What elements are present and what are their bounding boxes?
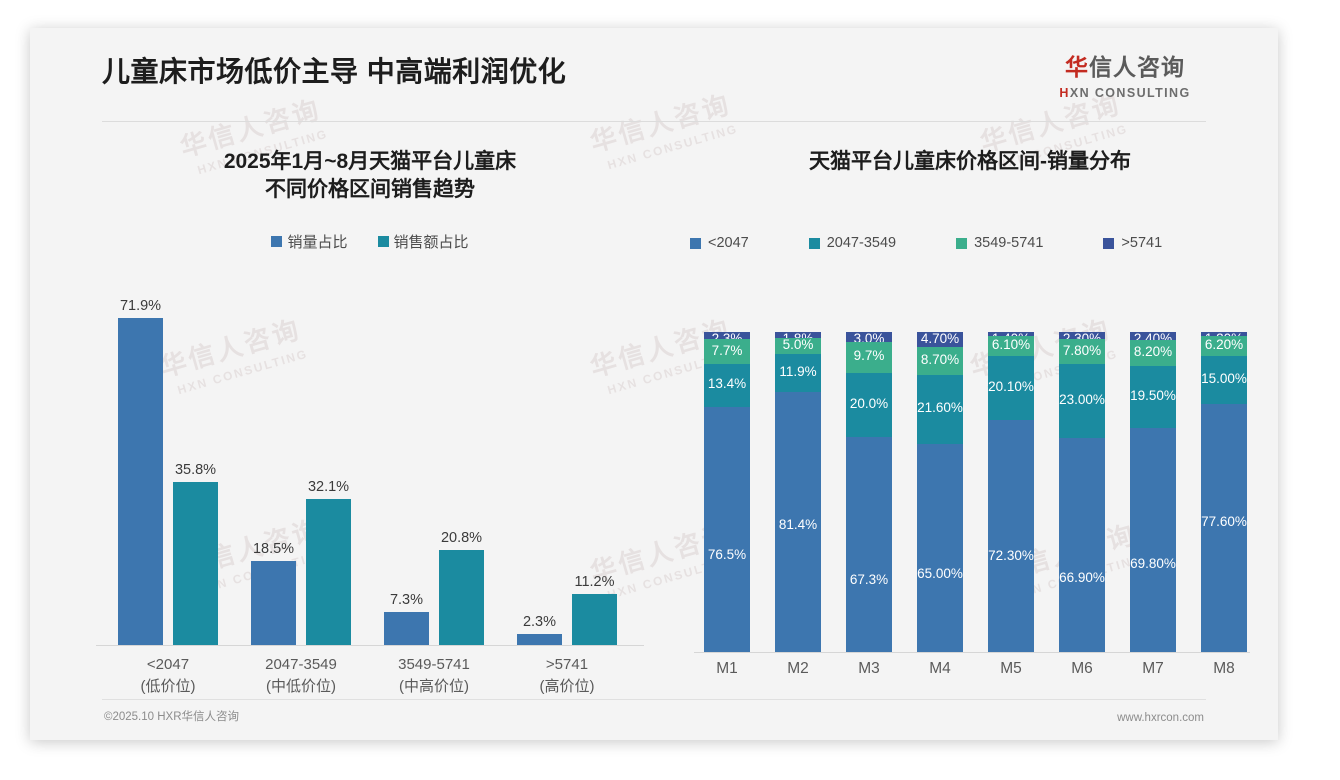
bar-value-label: 71.9% xyxy=(120,298,161,314)
bar-value-label: 35.8% xyxy=(175,462,216,478)
legend-label: 3549-5741 xyxy=(974,235,1043,251)
bar-sales-amount[interactable] xyxy=(173,482,218,645)
bar-sales-amount[interactable] xyxy=(439,550,484,645)
legend-item-over-5741[interactable]: >5741 xyxy=(1103,235,1162,251)
segment-under-2047[interactable]: 77.60% xyxy=(1201,404,1247,652)
segment-value-label: 13.4% xyxy=(708,376,746,391)
bar-group: 71.9% 35.8% xyxy=(118,318,218,645)
segment-over-5741[interactable]: 2.30% xyxy=(1059,332,1105,339)
bar-group: 18.5% 32.1% xyxy=(251,499,351,645)
legend-label: <2047 xyxy=(708,235,749,251)
x-axis-label-month: M5 xyxy=(981,660,1041,678)
segment-3549-5741[interactable]: 8.70% xyxy=(917,347,963,375)
segment-2047-3549[interactable]: 11.9% xyxy=(775,354,821,392)
segment-2047-3549[interactable]: 23.00% xyxy=(1059,364,1105,438)
bar-wrapper[interactable]: 20.8% xyxy=(439,550,484,645)
x-axis-label-month: M7 xyxy=(1123,660,1183,678)
slide-header: 儿童床市场低价主导 中高端利润优化 华信人咨询 HXN CONSULTING xyxy=(30,28,1278,121)
segment-value-label: 7.80% xyxy=(1063,343,1101,358)
segment-value-label: 76.5% xyxy=(708,547,746,562)
segment-3549-5741[interactable]: 7.7% xyxy=(704,339,750,364)
bar-value-label: 20.8% xyxy=(441,530,482,546)
segment-value-label: 20.10% xyxy=(988,379,1034,394)
segment-over-5741[interactable]: 4.70% xyxy=(917,332,963,347)
legend-label: 2047-3549 xyxy=(827,235,896,251)
bar-sales-amount[interactable] xyxy=(306,499,351,645)
segment-3549-5741[interactable]: 8.20% xyxy=(1130,340,1176,366)
right-chart-title: 天猫平台儿童床价格区间-销量分布 xyxy=(680,138,1260,176)
segment-3549-5741[interactable]: 7.80% xyxy=(1059,339,1105,364)
segment-value-label: 72.30% xyxy=(988,548,1034,563)
segment-value-label: 19.50% xyxy=(1130,388,1176,403)
stacked-bar[interactable]: 1.8% 5.0% 11.9% 81.4% xyxy=(775,332,821,652)
segment-under-2047[interactable]: 65.00% xyxy=(917,444,963,652)
left-chart-legend: 销量占比 销售额占比 xyxy=(70,231,670,252)
segment-value-label: 5.0% xyxy=(783,337,814,352)
logo-cn-rest: 信人咨询 xyxy=(1089,54,1185,80)
x-axis-label-sub: (高价位) xyxy=(512,676,622,698)
x-axis-label-month: M8 xyxy=(1194,660,1254,678)
segment-3549-5741[interactable]: 9.7% xyxy=(846,342,892,373)
x-axis-label-sub: (中低价位) xyxy=(246,676,356,698)
logo-chinese-text: 华信人咨询 xyxy=(1040,56,1210,79)
segment-value-label: 9.7% xyxy=(854,348,885,363)
segment-2047-3549[interactable]: 15.00% xyxy=(1201,356,1247,404)
bar-wrapper[interactable]: 2.3% xyxy=(517,634,562,645)
bar-sales-volume[interactable] xyxy=(251,561,296,645)
logo-en-rest: XN CONSULTING xyxy=(1070,86,1191,100)
bar-wrapper[interactable]: 7.3% xyxy=(384,612,429,645)
segment-under-2047[interactable]: 67.3% xyxy=(846,437,892,652)
segment-value-label: 7.7% xyxy=(712,343,743,358)
bar-value-label: 2.3% xyxy=(523,614,556,630)
segment-value-label: 4.70% xyxy=(921,331,959,346)
bar-sales-volume[interactable] xyxy=(118,318,163,645)
stacked-bar[interactable]: 4.70% 8.70% 21.60% 65.00% xyxy=(917,332,963,652)
bar-sales-volume[interactable] xyxy=(384,612,429,645)
segment-value-label: 8.70% xyxy=(921,352,959,367)
segment-value-label: 6.10% xyxy=(992,337,1030,352)
bar-value-label: 7.3% xyxy=(390,592,423,608)
segment-value-label: 77.60% xyxy=(1201,514,1247,529)
footer-website[interactable]: www.hxrcon.com xyxy=(1117,712,1204,724)
segment-under-2047[interactable]: 81.4% xyxy=(775,392,821,652)
segment-under-2047[interactable]: 76.5% xyxy=(704,407,750,652)
brand-logo: 华信人咨询 HXN CONSULTING xyxy=(1040,56,1210,100)
bar-wrapper[interactable]: 32.1% xyxy=(306,499,351,645)
bar-value-label: 32.1% xyxy=(308,479,349,495)
footer-divider xyxy=(102,699,1206,700)
x-axis-label-month: M6 xyxy=(1052,660,1112,678)
bar-wrapper[interactable]: 35.8% xyxy=(173,482,218,645)
segment-under-2047[interactable]: 72.30% xyxy=(988,420,1034,651)
legend-swatch-icon xyxy=(956,238,967,249)
segment-over-5741[interactable]: 3.0% xyxy=(846,332,892,342)
legend-swatch-icon xyxy=(690,238,701,249)
legend-item-2047-3549[interactable]: 2047-3549 xyxy=(809,235,896,251)
right-chart-legend: <2047 2047-3549 3549-5741 >5741 xyxy=(680,235,1260,251)
x-axis-label: 2047-3549 (中低价位) xyxy=(246,654,356,698)
segment-over-5741[interactable]: 2.40% xyxy=(1130,332,1176,340)
segment-3549-5741[interactable]: 6.20% xyxy=(1201,336,1247,356)
legend-item-sales-volume[interactable]: 销量占比 xyxy=(271,231,347,252)
x-axis-label: <2047 (低价位) xyxy=(113,654,223,698)
left-chart-x-axis-labels: <2047 (低价位) 2047-3549 (中低价位) 3549-5741 (… xyxy=(96,654,644,710)
left-chart-title: 2025年1月~8月天猫平台儿童床 不同价格区间销售趋势 xyxy=(70,138,670,205)
stacked-bar[interactable]: 1.20% 6.20% 15.00% 77.60% xyxy=(1201,332,1247,652)
bar-sales-volume[interactable] xyxy=(517,634,562,645)
bar-value-label: 11.2% xyxy=(574,574,614,590)
stacked-bar[interactable]: 2.40% 8.20% 19.50% 69.80% xyxy=(1130,332,1176,652)
x-axis-label-range: <2047 xyxy=(147,656,189,673)
segment-value-label: 65.00% xyxy=(917,566,963,581)
segment-value-label: 15.00% xyxy=(1201,371,1247,386)
segment-2047-3549[interactable]: 13.4% xyxy=(704,364,750,407)
segment-over-5741[interactable]: 2.3% xyxy=(704,332,750,339)
segment-3549-5741[interactable]: 6.10% xyxy=(988,336,1034,356)
legend-label: >5741 xyxy=(1121,235,1162,251)
segment-value-label: 23.00% xyxy=(1059,392,1105,407)
x-axis-label-sub: (中高价位) xyxy=(379,676,489,698)
right-chart-x-axis-labels: M1 M2 M3 M4 M5 M6 M7 M8 xyxy=(694,660,1250,690)
segment-value-label: 81.4% xyxy=(779,517,817,532)
slide-canvas: 华信人咨询 HXN CONSULTING 华信人咨询 HXN CONSULTIN… xyxy=(30,28,1278,740)
x-axis-label-range: >5741 xyxy=(546,656,588,673)
x-axis-label-month: M3 xyxy=(839,660,899,678)
legend-swatch-icon xyxy=(378,236,389,247)
x-axis-label: 3549-5741 (中高价位) xyxy=(379,654,489,698)
logo-english-text: HXN CONSULTING xyxy=(1040,86,1210,100)
segment-value-label: 8.20% xyxy=(1134,344,1172,359)
legend-item-sales-amount[interactable]: 销售额占比 xyxy=(378,231,469,252)
segment-2047-3549[interactable]: 21.60% xyxy=(917,375,963,444)
segment-value-label: 69.80% xyxy=(1130,556,1176,571)
bar-sales-amount[interactable] xyxy=(572,594,617,645)
right-chart-panel: 天猫平台儿童床价格区间-销量分布 <2047 2047-3549 3549-57… xyxy=(680,138,1260,703)
bar-wrapper[interactable]: 18.5% xyxy=(251,561,296,645)
x-axis-label-range: 2047-3549 xyxy=(265,656,337,673)
segment-2047-3549[interactable]: 20.10% xyxy=(988,356,1034,420)
logo-en-red: H xyxy=(1059,86,1069,100)
segment-3549-5741[interactable]: 5.0% xyxy=(775,338,821,354)
segment-value-label: 11.9% xyxy=(779,364,816,379)
legend-item-3549-5741[interactable]: 3549-5741 xyxy=(956,235,1043,251)
segment-2047-3549[interactable]: 20.0% xyxy=(846,373,892,437)
segment-value-label: 6.20% xyxy=(1205,337,1243,352)
legend-item-under-2047[interactable]: <2047 xyxy=(690,235,749,251)
stacked-bar[interactable]: 2.3% 7.7% 13.4% 76.5% xyxy=(704,332,750,652)
segment-value-label: 21.60% xyxy=(917,400,963,415)
stacked-bar[interactable]: 2.30% 7.80% 23.00% 66.90% xyxy=(1059,332,1105,652)
bar-wrapper[interactable]: 11.2% xyxy=(572,594,617,645)
footer-copyright: ©2025.10 HXR华信人咨询 xyxy=(104,708,239,724)
legend-label: 销售额占比 xyxy=(394,231,469,252)
x-axis-label-range: 3549-5741 xyxy=(398,656,470,673)
x-axis-label-month: M1 xyxy=(697,660,757,678)
legend-swatch-icon xyxy=(1103,238,1114,249)
segment-under-2047[interactable]: 66.90% xyxy=(1059,438,1105,652)
left-chart-plot-area: 71.9% 35.8% 18.5% 32.1% xyxy=(96,316,644,646)
stacked-bar[interactable]: 1.40% 6.10% 20.10% 72.30% xyxy=(988,332,1034,652)
page-title: 儿童床市场低价主导 中高端利润优化 xyxy=(102,50,566,90)
x-axis-label-month: M2 xyxy=(768,660,828,678)
x-axis-line xyxy=(96,645,644,646)
x-axis-line xyxy=(694,652,1250,653)
legend-swatch-icon xyxy=(809,238,820,249)
segment-under-2047[interactable]: 69.80% xyxy=(1130,428,1176,651)
x-axis-label-sub: (低价位) xyxy=(113,676,223,698)
legend-label: 销量占比 xyxy=(287,231,347,252)
header-divider xyxy=(102,121,1206,122)
legend-swatch-icon xyxy=(271,236,282,247)
left-chart-panel: 2025年1月~8月天猫平台儿童床 不同价格区间销售趋势 销量占比 销售额占比 … xyxy=(70,138,670,703)
segment-value-label: 66.90% xyxy=(1059,570,1105,585)
stacked-bar[interactable]: 3.0% 9.7% 20.0% 67.3% xyxy=(846,332,892,652)
left-chart-title-line1: 2025年1月~8月天猫平台儿童床 xyxy=(70,148,670,176)
bar-wrapper[interactable]: 71.9% xyxy=(118,318,163,645)
bar-group: 2.3% 11.2% xyxy=(517,594,617,645)
x-axis-label-month: M4 xyxy=(910,660,970,678)
right-chart-plot-area: 2.3% 7.7% 13.4% 76.5% 1.8% 5.0% xyxy=(694,333,1250,653)
segment-value-label: 20.0% xyxy=(850,396,888,411)
segment-2047-3549[interactable]: 19.50% xyxy=(1130,366,1176,428)
bar-group: 7.3% 20.8% xyxy=(384,550,484,645)
segment-value-label: 67.3% xyxy=(850,572,888,587)
x-axis-label: >5741 (高价位) xyxy=(512,654,622,698)
logo-cn-red: 华 xyxy=(1065,54,1089,80)
bar-value-label: 18.5% xyxy=(253,541,294,557)
left-chart-title-line2: 不同价格区间销售趋势 xyxy=(70,176,670,204)
